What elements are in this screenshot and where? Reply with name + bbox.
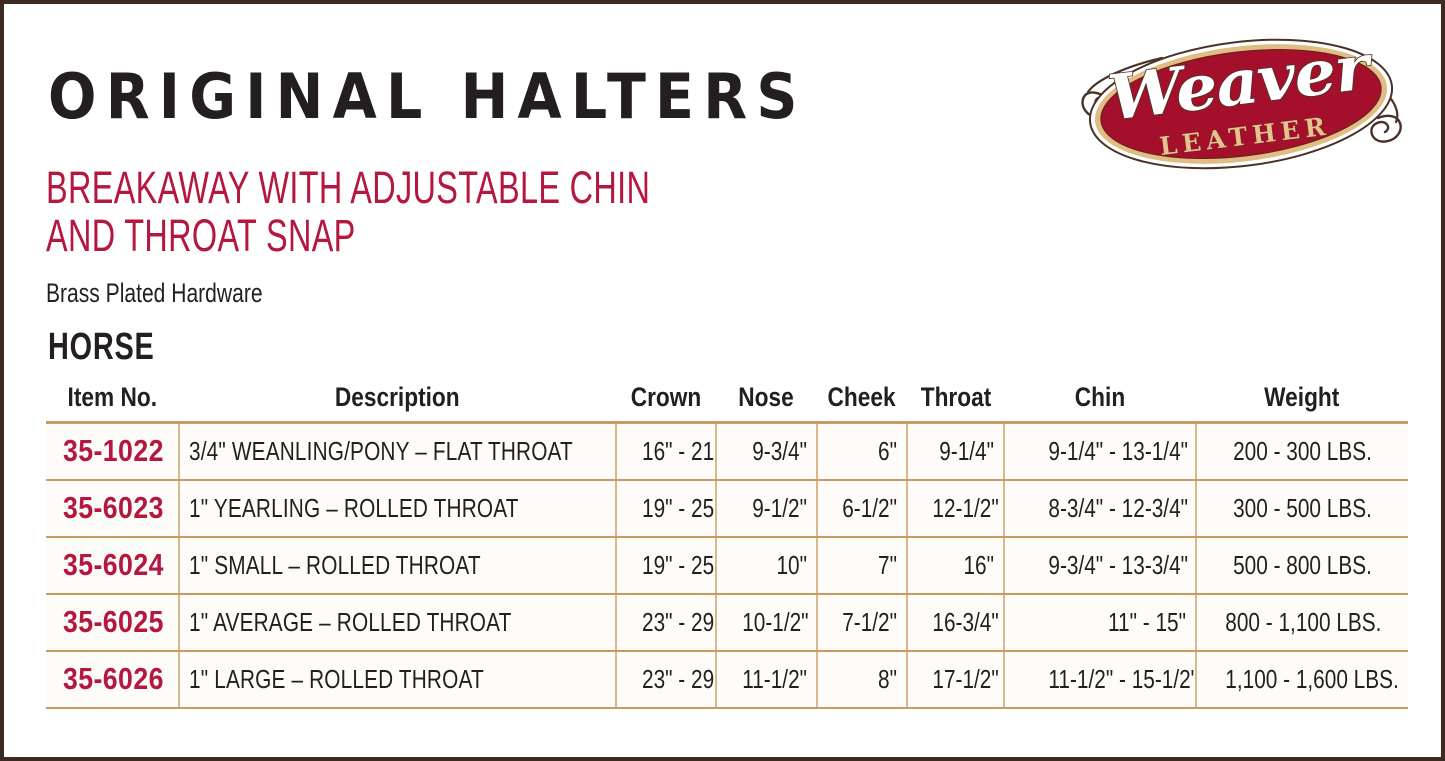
column-header-nose: Nose (716, 382, 817, 423)
cell-crown: 23" - 29" (616, 651, 716, 708)
table-body: 35-1022 3/4" WEANLING/PONY – FLAT THROAT… (46, 423, 1408, 708)
table-row: 35-6026 1" LARGE – ROLLED THROAT 23" - 2… (46, 651, 1408, 708)
cell-chin: 11" - 15" (1004, 594, 1196, 651)
cell-item-no: 35-6026 (46, 651, 179, 708)
cell-weight: 300 - 500 LBS. (1196, 480, 1408, 537)
table-row: 35-6025 1" AVERAGE – ROLLED THROAT 23" -… (46, 594, 1408, 651)
cell-nose: 10" (716, 537, 817, 594)
column-header-description: Description (179, 382, 616, 423)
column-header-item-no: Item No. (46, 382, 179, 423)
cell-description: 1" YEARLING – ROLLED THROAT (179, 480, 616, 537)
table-row: 35-6023 1" YEARLING – ROLLED THROAT 19" … (46, 480, 1408, 537)
cell-throat: 9-1/4" (907, 423, 1004, 480)
column-header-crown: Crown (616, 382, 716, 423)
table-header-row: Item No. Description Crown Nose Cheek Th… (46, 382, 1408, 423)
column-header-weight: Weight (1196, 382, 1408, 423)
cell-weight: 500 - 800 LBS. (1196, 537, 1408, 594)
spec-sheet-page: ORIGINAL HALTERS BREAKAWAY WITH ADJUSTAB… (0, 0, 1445, 761)
cell-description: 3/4" WEANLING/PONY – FLAT THROAT (179, 423, 616, 480)
column-header-chin: Chin (1004, 382, 1196, 423)
header-section: ORIGINAL HALTERS BREAKAWAY WITH ADJUSTAB… (4, 4, 1445, 376)
cell-cheek: 6-1/2" (817, 480, 907, 537)
cell-description: 1" AVERAGE – ROLLED THROAT (179, 594, 616, 651)
cell-item-no: 35-6023 (46, 480, 179, 537)
table-row: 35-6024 1" SMALL – ROLLED THROAT 19" - 2… (46, 537, 1408, 594)
table-header: Item No. Description Crown Nose Cheek Th… (46, 382, 1408, 423)
cell-cheek: 7" (817, 537, 907, 594)
page-subtitle: BREAKAWAY WITH ADJUSTABLE CHIN AND THROA… (46, 164, 650, 260)
cell-weight: 800 - 1,100 LBS. (1196, 594, 1408, 651)
cell-crown: 19" - 25" (616, 537, 716, 594)
cell-description: 1" SMALL – ROLLED THROAT (179, 537, 616, 594)
cell-crown: 19" - 25" (616, 480, 716, 537)
cell-nose: 9-3/4" (716, 423, 817, 480)
cell-throat: 16-3/4" (907, 594, 1004, 651)
page-title: ORIGINAL HALTERS (48, 66, 807, 128)
cell-item-no: 35-1022 (46, 423, 179, 480)
cell-throat: 12-1/2" (907, 480, 1004, 537)
column-header-cheek: Cheek (817, 382, 907, 423)
cell-chin: 8-3/4" - 12-3/4" (1004, 480, 1196, 537)
halter-spec-table: Item No. Description Crown Nose Cheek Th… (46, 382, 1408, 709)
cell-cheek: 6" (817, 423, 907, 480)
table-row: 35-1022 3/4" WEANLING/PONY – FLAT THROAT… (46, 423, 1408, 480)
cell-cheek: 7-1/2" (817, 594, 907, 651)
cell-weight: 1,100 - 1,600 LBS. (1196, 651, 1408, 708)
cell-throat: 16" (907, 537, 1004, 594)
category-heading: HORSE (48, 326, 155, 368)
cell-weight: 200 - 300 LBS. (1196, 423, 1408, 480)
cell-item-no: 35-6024 (46, 537, 179, 594)
cell-description: 1" LARGE – ROLLED THROAT (179, 651, 616, 708)
cell-chin: 11-1/2" - 15-1/2" (1004, 651, 1196, 708)
cell-chin: 9-1/4" - 13-1/4" (1004, 423, 1196, 480)
cell-cheek: 8" (817, 651, 907, 708)
cell-chin: 9-3/4" - 13-3/4" (1004, 537, 1196, 594)
cell-throat: 17-1/2" (907, 651, 1004, 708)
column-header-throat: Throat (907, 382, 1004, 423)
cell-nose: 10-1/2" (716, 594, 817, 651)
hardware-note: Brass Plated Hardware (46, 278, 263, 308)
weaver-leather-logo: Weaver LEATHER (1066, 22, 1416, 187)
cell-crown: 23" - 29" (616, 594, 716, 651)
cell-nose: 9-1/2" (716, 480, 817, 537)
cell-crown: 16" - 21" (616, 423, 716, 480)
cell-item-no: 35-6025 (46, 594, 179, 651)
cell-nose: 11-1/2" (716, 651, 817, 708)
